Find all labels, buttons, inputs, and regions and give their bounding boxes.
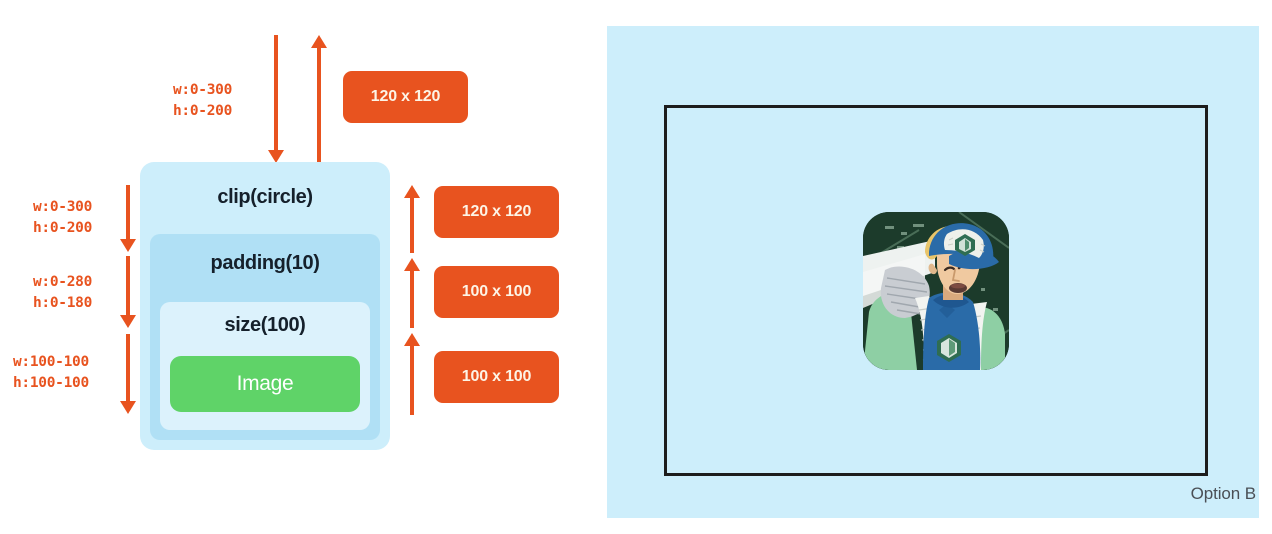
arrow-down-padding [120,256,136,328]
size-badge-top: 120 x 120 [343,71,468,123]
avatar-artwork [863,212,1009,370]
clipped-avatar-image [863,212,1009,370]
arrow-down-clip [120,185,136,252]
size-layer-label: size(100) [160,302,370,337]
arrow-down-size [120,334,136,414]
constraint-label-padding: w:0-280 h:0-180 [33,272,92,314]
size-badge-size: 100 x 100 [434,351,559,403]
preview-panel: Option B [607,26,1259,518]
widget-stack-padding-layer: padding(10) size(100) Image [150,234,380,440]
clip-layer-label: clip(circle) [140,162,390,209]
arrow-up-padding [404,258,420,328]
widget-stack-size-layer: size(100) Image [160,302,370,430]
constraints-diagram-panel: w:0-300 h:0-200 120 x 120 w:0-300 h:0-20… [0,0,600,534]
constraint-label-size: w:100-100 h:100-100 [13,352,89,394]
arrow-up-clip [404,185,420,253]
preview-frame-border [664,105,1208,476]
preview-caption-label: Option B [1191,484,1256,504]
arrow-up-top [311,35,327,163]
image-widget-box: Image [170,356,360,412]
constraint-label-clip: w:0-300 h:0-200 [33,197,92,239]
widget-stack-clip-layer: clip(circle) padding(10) size(100) Image [140,162,390,450]
size-badge-clip: 120 x 120 [434,186,559,238]
image-widget-label: Image [237,372,294,396]
arrow-up-size [404,333,420,415]
constraint-label-top: w:0-300 h:0-200 [173,80,232,122]
padding-layer-label: padding(10) [150,234,380,275]
size-badge-padding: 100 x 100 [434,266,559,318]
arrow-down-top [268,35,284,163]
